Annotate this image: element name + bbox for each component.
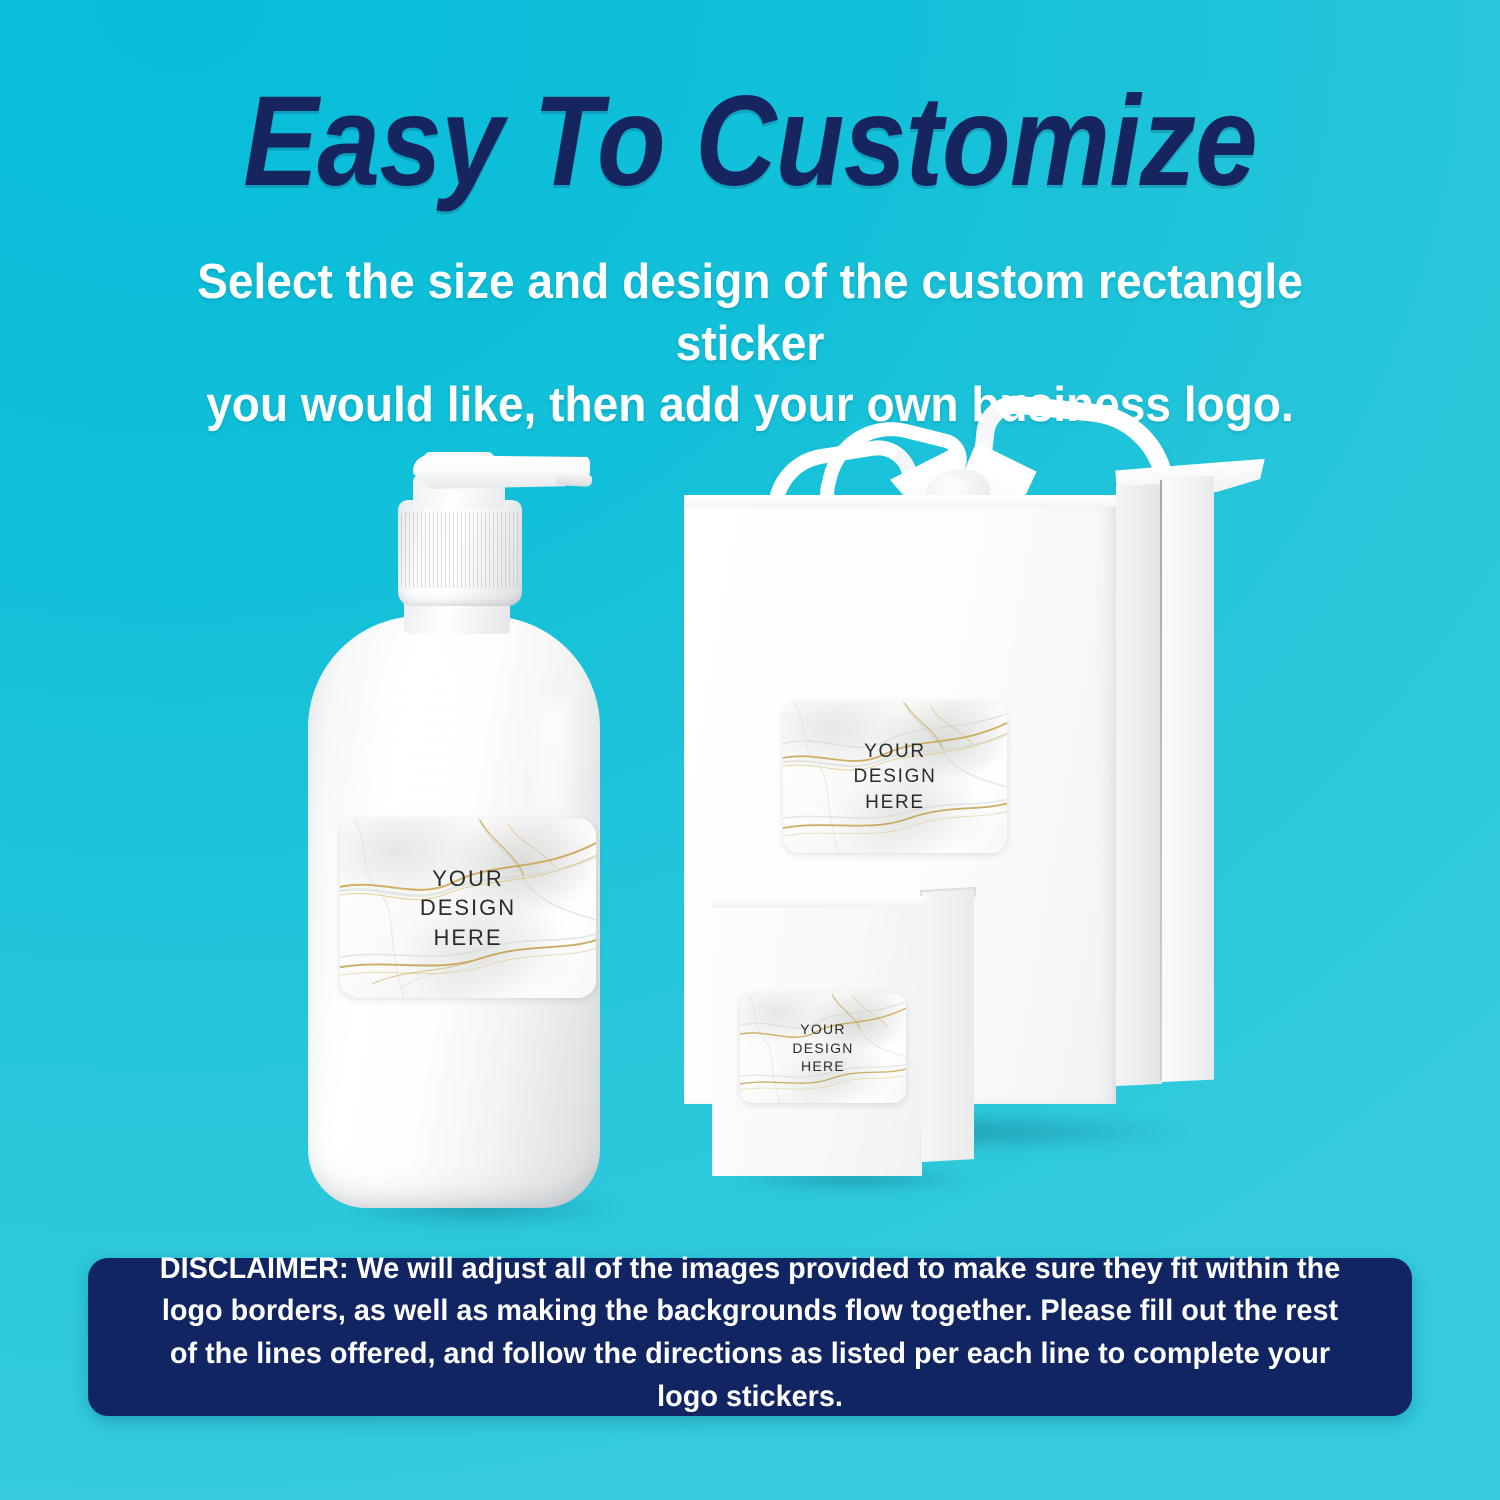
sticker-line-3: HERE bbox=[433, 923, 502, 952]
disclaimer-text: DISCLAIMER: We will adjust all of the im… bbox=[147, 1248, 1353, 1418]
pump-nozzle-tip bbox=[556, 473, 593, 487]
sticker-line-2: DESIGN bbox=[420, 893, 516, 922]
sticker-bottle-label[interactable]: YOUR DESIGN HERE bbox=[340, 818, 596, 998]
sticker-line-1: YOUR bbox=[432, 864, 503, 893]
disclaimer-label: DISCLAIMER: bbox=[160, 1252, 349, 1285]
sticker-small-box[interactable]: YOUR DESIGN HERE bbox=[740, 993, 906, 1103]
gift-box-seam bbox=[1160, 480, 1162, 1080]
sticker-text-block: YOUR DESIGN HERE bbox=[340, 818, 596, 998]
gift-box-lid-edge bbox=[684, 495, 1116, 507]
sticker-line-2: DESIGN bbox=[792, 1039, 853, 1057]
small-box-side-face bbox=[922, 889, 974, 1162]
sticker-gift-box[interactable]: YOUR DESIGN HERE bbox=[783, 701, 1007, 853]
disclaimer-banner: DISCLAIMER: We will adjust all of the im… bbox=[88, 1258, 1412, 1416]
gift-box-side-panel-far bbox=[1162, 476, 1214, 1082]
sticker-line-1: YOUR bbox=[800, 1020, 846, 1038]
sticker-text-block: YOUR DESIGN HERE bbox=[740, 993, 906, 1103]
sticker-line-3: HERE bbox=[801, 1057, 845, 1075]
poster-canvas: Easy To Customize Select the size and de… bbox=[0, 0, 1500, 1500]
sticker-line-1: YOUR bbox=[864, 739, 926, 764]
sticker-line-2: DESIGN bbox=[853, 764, 936, 789]
sticker-text-block: YOUR DESIGN HERE bbox=[783, 701, 1007, 853]
pump-collar-ribs bbox=[401, 512, 519, 588]
gift-box-side-panel-near bbox=[1116, 484, 1162, 1086]
sticker-line-3: HERE bbox=[865, 790, 925, 815]
small-box-top-face bbox=[712, 896, 924, 908]
